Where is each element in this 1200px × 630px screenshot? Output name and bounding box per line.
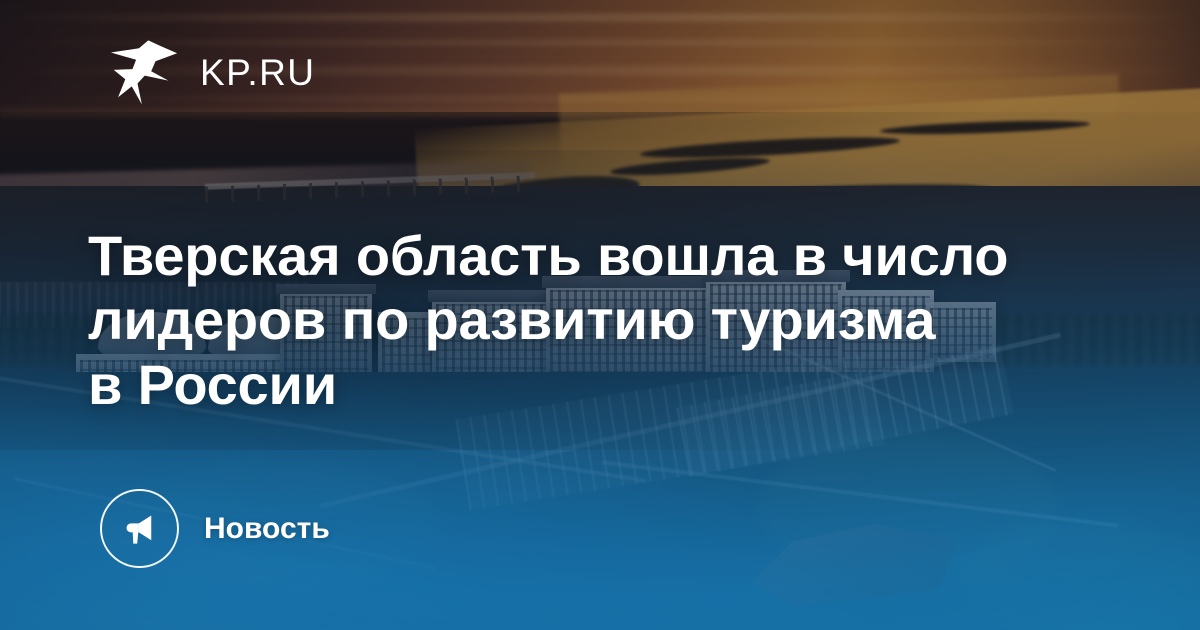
- brand-name: KP.RU: [200, 54, 315, 91]
- page-title: Тверская область вошла в число лидеров п…: [88, 224, 1048, 419]
- content-type-tag[interactable]: Новость: [100, 489, 330, 568]
- headline-line-1: Тверская область вошла в число: [88, 224, 1048, 289]
- headline-line-2: лидеров по развитию туризма: [88, 288, 1048, 353]
- share-card: KP.RU Тверская область вошла в число лид…: [0, 0, 1200, 630]
- status-badge: Новость: [204, 514, 330, 544]
- megaphone-icon: [100, 489, 179, 568]
- headline-line-3: в России: [88, 353, 1048, 418]
- swallow-bird-icon: [108, 36, 180, 108]
- brand-lockup[interactable]: KP.RU: [108, 36, 315, 108]
